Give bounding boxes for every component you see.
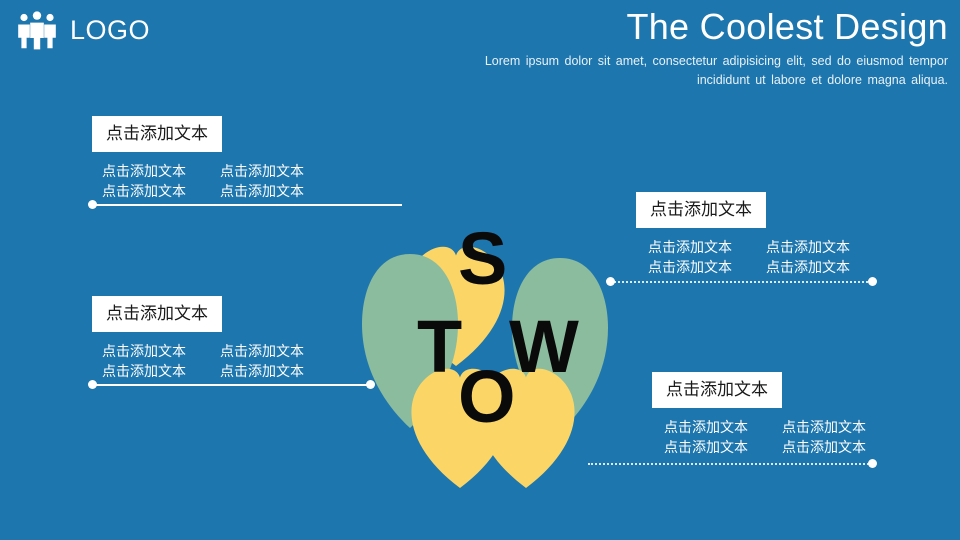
connector-dot-bottom-right-end [868,459,877,468]
connector-dot-bottom-left-end [366,380,375,389]
connector-dot-top-left [88,200,97,209]
callout-text: 点击添加文本 [102,181,220,201]
callout-bottom-left-title[interactable]: 点击添加文本 [92,296,222,332]
callout-text: 点击添加文本 [102,341,220,361]
callout-text: 点击添加文本 [766,257,884,277]
connector-dot-bottom-left-start [88,380,97,389]
callout-bottom-left-body: 点击添加文本点击添加文本 点击添加文本点击添加文本 [102,341,338,382]
logo-text: LOGO [70,17,150,44]
callout-top-left-title[interactable]: 点击添加文本 [92,116,222,152]
callout-top-right[interactable]: 点击添加文本 点击添加文本点击添加文本 点击添加文本点击添加文本 [636,192,884,278]
callout-text: 点击添加文本 [220,361,338,381]
callout-text: 点击添加文本 [220,341,338,361]
callout-text: 点击添加文本 [664,417,782,437]
connector-line-top-left [96,204,402,206]
connector-dot-top-right-end [868,277,877,286]
callout-text: 点击添加文本 [220,181,338,201]
callout-text: 点击添加文本 [220,161,338,181]
callout-text: 点击添加文本 [648,237,766,257]
connector-line-bottom-left [96,384,370,386]
callout-text: 点击添加文本 [782,437,900,457]
people-group-icon [14,10,60,50]
connector-line-bottom-right [588,463,872,465]
callout-text: 点击添加文本 [102,161,220,181]
swot-letter-w: W [509,310,579,384]
callout-text: 点击添加文本 [766,237,884,257]
callout-bottom-right-title[interactable]: 点击添加文本 [652,372,782,408]
logo[interactable]: LOGO [14,10,150,50]
callout-bottom-left[interactable]: 点击添加文本 点击添加文本点击添加文本 点击添加文本点击添加文本 [92,296,338,382]
page-title: The Coolest Design [388,6,948,47]
slide-canvas: LOGO The Coolest Design Lorem ipsum dolo… [0,0,960,540]
connector-line-top-right [614,281,872,283]
callout-bottom-right-body: 点击添加文本点击添加文本 点击添加文本点击添加文本 [664,417,900,458]
swot-diagram [348,160,648,500]
callout-text: 点击添加文本 [648,257,766,277]
swot-letter-o: O [458,360,516,434]
callout-bottom-right[interactable]: 点击添加文本 点击添加文本点击添加文本 点击添加文本点击添加文本 [652,372,900,458]
page-subtitle: Lorem ipsum dolor sit amet, consectetur … [478,52,948,91]
callout-top-right-body: 点击添加文本点击添加文本 点击添加文本点击添加文本 [648,237,884,278]
callout-top-left-body: 点击添加文本点击添加文本 点击添加文本点击添加文本 [102,161,338,202]
connector-dot-top-right-start [606,277,615,286]
swot-letter-t: T [417,310,462,384]
callout-text: 点击添加文本 [782,417,900,437]
callout-text: 点击添加文本 [664,437,782,457]
swot-letter-s: S [458,222,507,296]
callout-top-left[interactable]: 点击添加文本 点击添加文本点击添加文本 点击添加文本点击添加文本 [92,116,338,202]
callout-top-right-title[interactable]: 点击添加文本 [636,192,766,228]
callout-text: 点击添加文本 [102,361,220,381]
